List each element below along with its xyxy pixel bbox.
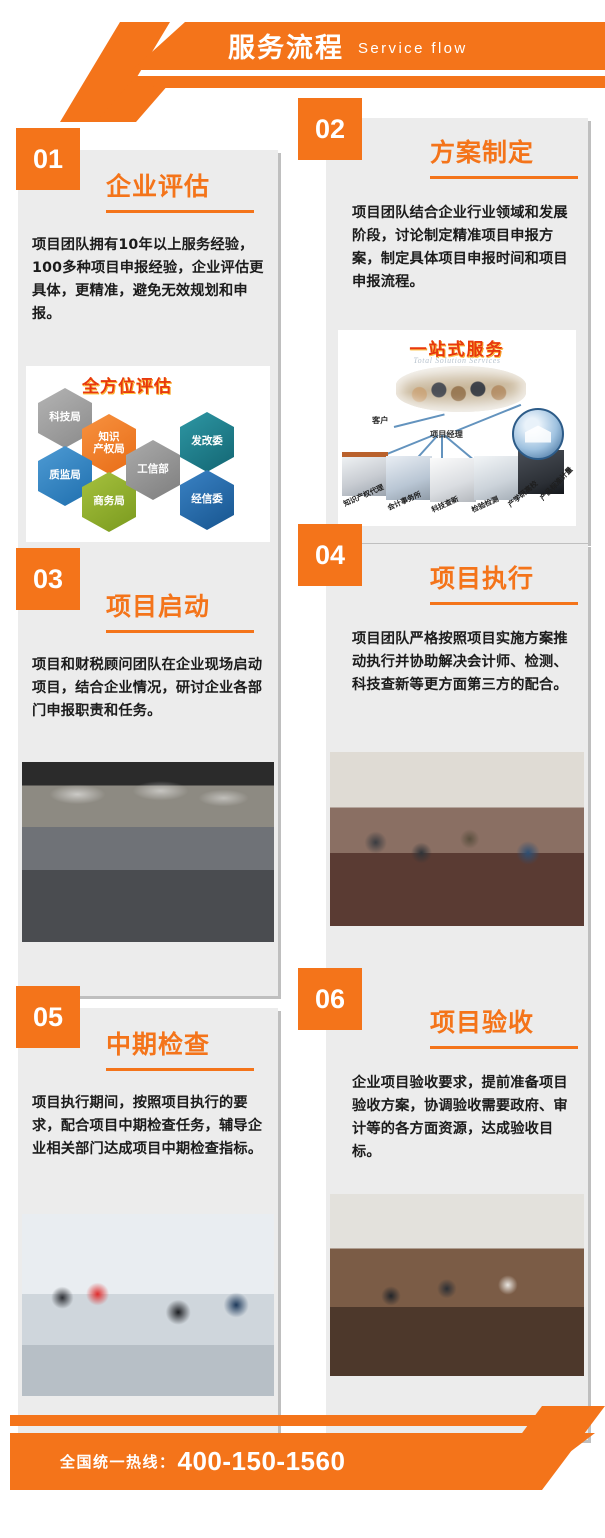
card-body-04: 项目团队严格按照项目实施方案推动执行并协助解决会计师、检测、科技查新等更方面第三… xyxy=(352,628,576,697)
card-title-rule-03 xyxy=(106,630,254,633)
process-card-04[interactable]: 04 项目执行 项目团队严格按照项目实施方案推动执行并协助解决会计师、检测、科技… xyxy=(326,544,588,990)
card-title-02: 方案制定 xyxy=(430,140,534,165)
one-stop-service-diagram: 一站式服务 Total Solution Services 客户 项目经理 知识… xyxy=(338,330,576,526)
card-body-02: 项目团队结合企业行业领域和发展阶段，讨论制定精准项目申报方案，制定具体项目申报时… xyxy=(352,202,576,294)
card-body-01: 项目团队拥有10年以上服务经验，100多种项目申报经验，企业评估更具体，更精准，… xyxy=(32,234,264,326)
photo-showroom-visit xyxy=(22,1214,274,1396)
card-number-badge-06: 06 xyxy=(298,968,362,1030)
page-footer: 全国统一热线： 400-150-1560 xyxy=(0,1406,605,1538)
page-title-cn: 服务流程 xyxy=(228,35,344,62)
footer-hotline-number[interactable]: 400-150-1560 xyxy=(178,1446,346,1477)
card-title-03: 项目启动 xyxy=(106,594,210,619)
one-stop-node-manager: 项目经理 xyxy=(430,428,463,440)
card-title-rule-05 xyxy=(106,1068,254,1071)
one-stop-thumb-4 xyxy=(474,456,520,500)
footer-hotline-label: 全国统一热线： xyxy=(60,1451,176,1472)
one-stop-subtitle: Total Solution Services xyxy=(413,356,500,365)
process-card-03[interactable]: 03 项目启动 项目和财税顾问团队在企业现场启动项目，结合企业情况，研讨企业各部… xyxy=(18,570,278,996)
card-number-badge-02: 02 xyxy=(298,98,362,160)
card-title-05: 中期检查 xyxy=(106,1032,210,1057)
footer-hotline-group: 全国统一热线： 400-150-1560 xyxy=(60,1433,345,1490)
header-band-secondary xyxy=(152,76,605,88)
one-stop-node-customer: 客户 xyxy=(372,414,388,426)
photo-meeting-room-kickoff xyxy=(22,762,274,942)
card-title-rule-01 xyxy=(106,210,254,213)
process-card-02[interactable]: 02 方案制定 项目团队结合企业行业领域和发展阶段，讨论制定精准项目申报方案，制… xyxy=(326,118,588,543)
page-title: 服务流程 Service flow xyxy=(228,26,468,70)
photo-conference-acceptance xyxy=(330,1194,584,1376)
hexagon-node-jingxin: 经信委 xyxy=(180,470,234,530)
footer-band-thin xyxy=(10,1415,595,1426)
card-title-06: 项目验收 xyxy=(430,1010,534,1035)
one-stop-certification-seal xyxy=(512,408,564,460)
card-title-01: 企业评估 xyxy=(106,174,210,199)
card-body-06: 企业项目验收要求，提前准备项目验收方案，协调验收需要政府、审计等的各方面资源，达… xyxy=(352,1072,576,1164)
hexagon-diagram-title: 全方位评估 xyxy=(82,372,172,397)
process-card-01[interactable]: 01 企业评估 项目团队拥有10年以上服务经验，100多种项目申报经验，企业评估… xyxy=(18,150,278,580)
card-title-rule-06 xyxy=(430,1046,578,1049)
one-stop-hero-photo xyxy=(396,366,526,412)
card-title-04: 项目执行 xyxy=(430,566,534,591)
card-number-badge-01: 01 xyxy=(16,128,80,190)
photo-team-working-laptops xyxy=(330,752,584,926)
card-number-badge-05: 05 xyxy=(16,986,80,1048)
card-body-03: 项目和财税顾问团队在企业现场启动项目，结合企业情况，研讨企业各部门申报职责和任务… xyxy=(32,654,264,723)
card-title-rule-04 xyxy=(430,602,578,605)
hexagon-assessment-diagram: 全方位评估 科技局 知识 产权局 质监局 商务局 工信部 发改委 经信委 xyxy=(26,366,270,542)
page-title-en: Service flow xyxy=(358,41,468,56)
card-number-badge-04: 04 xyxy=(298,524,362,586)
process-card-05[interactable]: 05 中期检查 项目执行期间，按照项目执行的要求，配合项目中期检查任务，辅导企业… xyxy=(18,1008,278,1448)
card-number-badge-03: 03 xyxy=(16,548,80,610)
process-card-06[interactable]: 06 项目验收 企业项目验收要求，提前准备项目验收方案，协调验收需要政府、审计等… xyxy=(326,988,588,1440)
card-title-rule-02 xyxy=(430,176,578,179)
hexagon-node-fagai: 发改委 xyxy=(180,412,234,472)
one-stop-connector-1 xyxy=(394,413,445,428)
card-body-05: 项目执行期间，按照项目执行的要求，配合项目中期检查任务，辅导企业相关部门达成项目… xyxy=(32,1092,264,1161)
